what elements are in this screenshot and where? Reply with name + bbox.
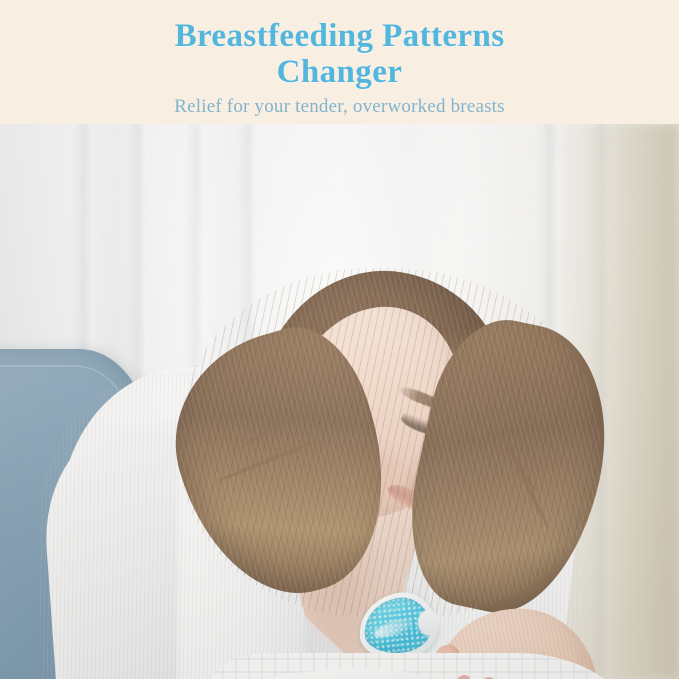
page-title: Breastfeeding Patterns Changer: [0, 0, 679, 90]
hero-photo: [0, 123, 679, 679]
gel-nursing-pad: [356, 589, 440, 663]
header-banner: Breastfeeding Patterns Changer Relief fo…: [0, 0, 679, 124]
product-listing-image: Breastfeeding Patterns Changer Relief fo…: [0, 0, 679, 679]
page-title-line-2: Changer: [0, 54, 679, 90]
page-title-line-1: Breastfeeding Patterns: [0, 18, 679, 54]
page-subtitle: Relief for your tender, overworked breas…: [0, 96, 679, 118]
mother-figure: [0, 123, 679, 679]
